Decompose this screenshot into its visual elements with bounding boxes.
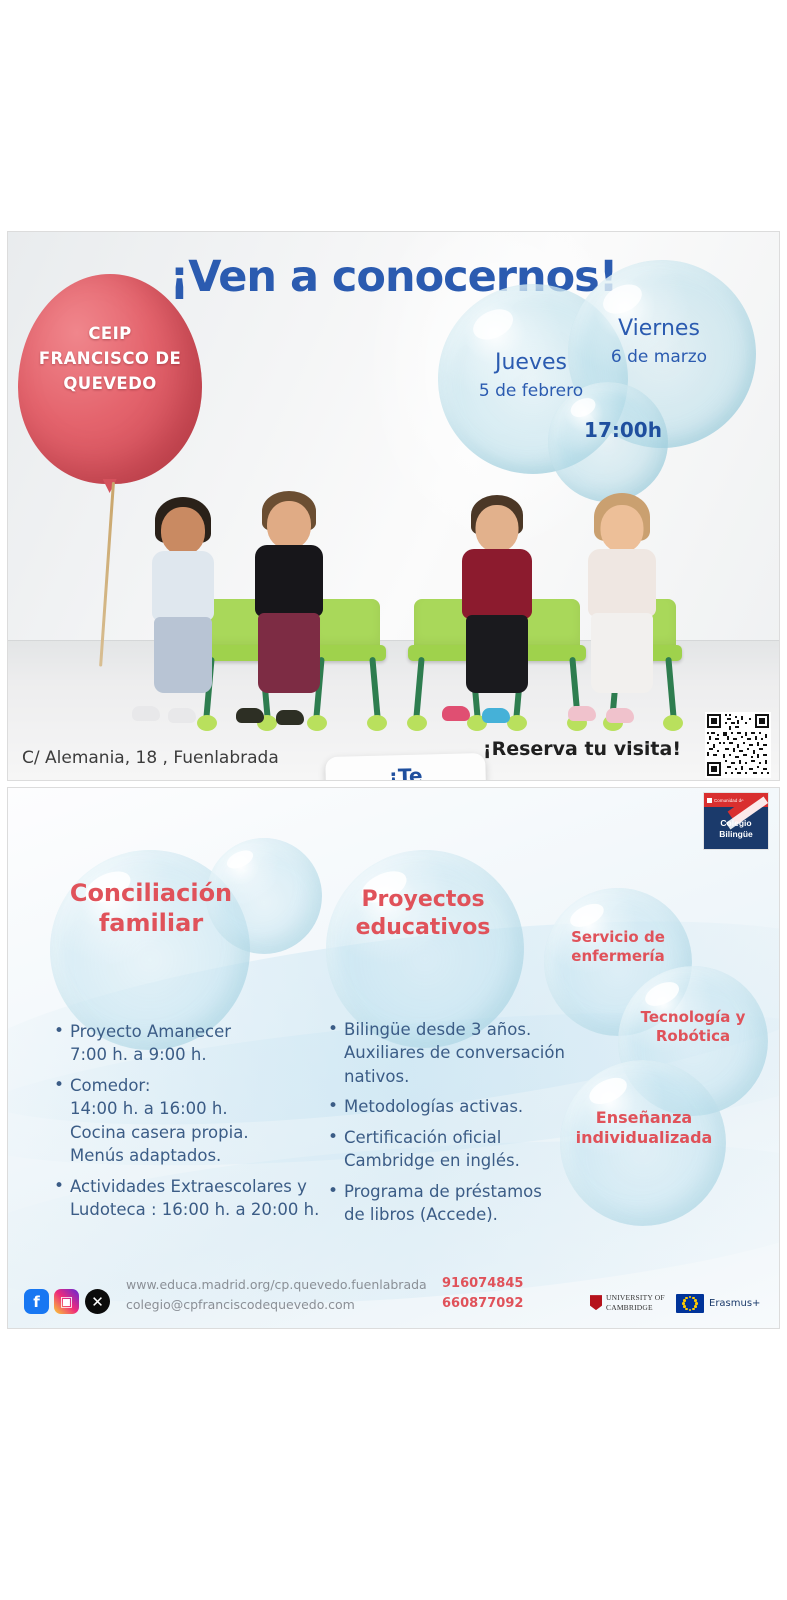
title-ensenanza-individualizada: Enseñanza individualizada [564, 1108, 724, 1148]
child-3 [438, 491, 556, 719]
title-ensenanza-line-1: Enseñanza [564, 1108, 724, 1128]
footer-phones: 916074845 660877092 [442, 1274, 523, 1314]
school-name-line-2: FRANCISCO DE [18, 347, 202, 372]
date-friday-day: Viernes [584, 316, 734, 341]
poster-footer: f ▣ ✕ www.educa.madrid.org/cp.quevedo.fu… [8, 1266, 779, 1328]
list-item: Actividades Extraescolares yLudoteca : 1… [52, 1175, 322, 1222]
cambridge-label: UNIVERSITY OF CAMBRIDGE [606, 1293, 665, 1312]
title-proyectos-line-2: educativos [332, 914, 514, 942]
title-proyectos-educativos: Proyectos educativos [332, 886, 514, 941]
erasmus-label: Erasmus+ [709, 1298, 760, 1309]
cambridge-line-1: UNIVERSITY OF [606, 1293, 665, 1302]
instagram-icon[interactable]: ▣ [54, 1289, 79, 1314]
bilingue-badge-body: Colegio Bilingüe [704, 807, 768, 850]
cta-reserve-visit[interactable]: ¡Reserva tu visita! [483, 738, 681, 760]
bottom-poster: Comunidad de Madrid Colegio Bilingüe Con… [8, 788, 779, 1328]
list-item: Bilingüe desde 3 años.Auxiliares de conv… [326, 1018, 576, 1088]
child-2 [230, 487, 348, 719]
list-conciliacion: Proyecto Amanecer7:00 h. a 9:00 h. Comed… [52, 1020, 322, 1228]
speech-line-1: ¡Te [339, 762, 472, 780]
x-twitter-icon[interactable]: ✕ [85, 1289, 110, 1314]
list-item: Programa de préstamosde libros (Accede). [326, 1180, 576, 1227]
phone-1[interactable]: 916074845 [442, 1274, 523, 1294]
list-item: Metodologías activas. [326, 1095, 576, 1118]
title-conciliacion-line-1: Conciliación [60, 878, 242, 908]
phone-2[interactable]: 660877092 [442, 1294, 523, 1314]
qr-code-icon[interactable] [705, 712, 771, 778]
cambridge-logo: UNIVERSITY OF CAMBRIDGE [590, 1293, 665, 1312]
title-tecnologia-line-2: Robótica [622, 1027, 764, 1046]
madrid-logo-icon [707, 798, 712, 803]
event-time: 17:00h [568, 418, 678, 442]
top-poster: ¡Ven a conocernos! CEIP FRANCISCO DE QUE… [8, 232, 779, 780]
title-servicio-enfermeria: Servicio de enfermería [548, 928, 688, 966]
title-enfermeria-line-2: enfermería [548, 947, 688, 966]
school-address: C/ Alemania, 18 , Fuenlabrada [22, 748, 279, 768]
colegio-bilingue-badge: Comunidad de Madrid Colegio Bilingüe [703, 792, 769, 850]
erasmus-logo: Erasmus+ [676, 1294, 760, 1313]
website-url[interactable]: www.educa.madrid.org/cp.quevedo.fuenlabr… [126, 1275, 427, 1294]
facebook-icon[interactable]: f [24, 1289, 49, 1314]
speech-bubble: ¡Te esperamos! [325, 753, 487, 780]
school-name: CEIP FRANCISCO DE QUEVEDO [18, 322, 202, 396]
list-item: Comedor:14:00 h. a 16:00 h.Cocina casera… [52, 1074, 322, 1168]
footer-contact-text: www.educa.madrid.org/cp.quevedo.fuenlabr… [126, 1275, 427, 1314]
list-item: Certificación oficialCambridge en inglés… [326, 1126, 576, 1173]
cambridge-shield-icon [590, 1295, 602, 1310]
title-tecnologia-robotica: Tecnología y Robótica [622, 1008, 764, 1046]
child-1 [128, 491, 238, 719]
title-tecnologia-line-1: Tecnología y [622, 1008, 764, 1027]
date-friday-date: 6 de marzo [584, 347, 734, 367]
title-conciliacion-familiar: Conciliación familiar [60, 878, 242, 938]
poster-divider [8, 783, 779, 786]
date-thursday-date: 5 de febrero [456, 381, 606, 401]
eu-flag-icon [676, 1294, 704, 1313]
cambridge-line-2: CAMBRIDGE [606, 1303, 665, 1312]
title-enfermeria-line-1: Servicio de [548, 928, 688, 947]
children-photo: ¡Te esperamos! [8, 457, 779, 727]
title-conciliacion-line-2: familiar [60, 908, 242, 938]
child-4 [564, 491, 680, 719]
badge-line-1: Colegio [720, 818, 751, 828]
title-ensenanza-line-2: individualizada [564, 1128, 724, 1148]
list-proyectos: Bilingüe desde 3 años.Auxiliares de conv… [326, 1018, 576, 1233]
title-proyectos-line-1: Proyectos [332, 886, 514, 914]
school-name-line-3: QUEVEDO [18, 372, 202, 397]
list-item: Proyecto Amanecer7:00 h. a 9:00 h. [52, 1020, 322, 1067]
school-name-line-1: CEIP [18, 322, 202, 347]
date-friday: Viernes 6 de marzo [584, 316, 734, 367]
badge-line-2: Bilingüe [719, 829, 753, 839]
poster-page: ¡Ven a conocernos! CEIP FRANCISCO DE QUE… [0, 0, 787, 1600]
email-address[interactable]: colegio@cpfranciscodequevedo.com [126, 1295, 427, 1314]
